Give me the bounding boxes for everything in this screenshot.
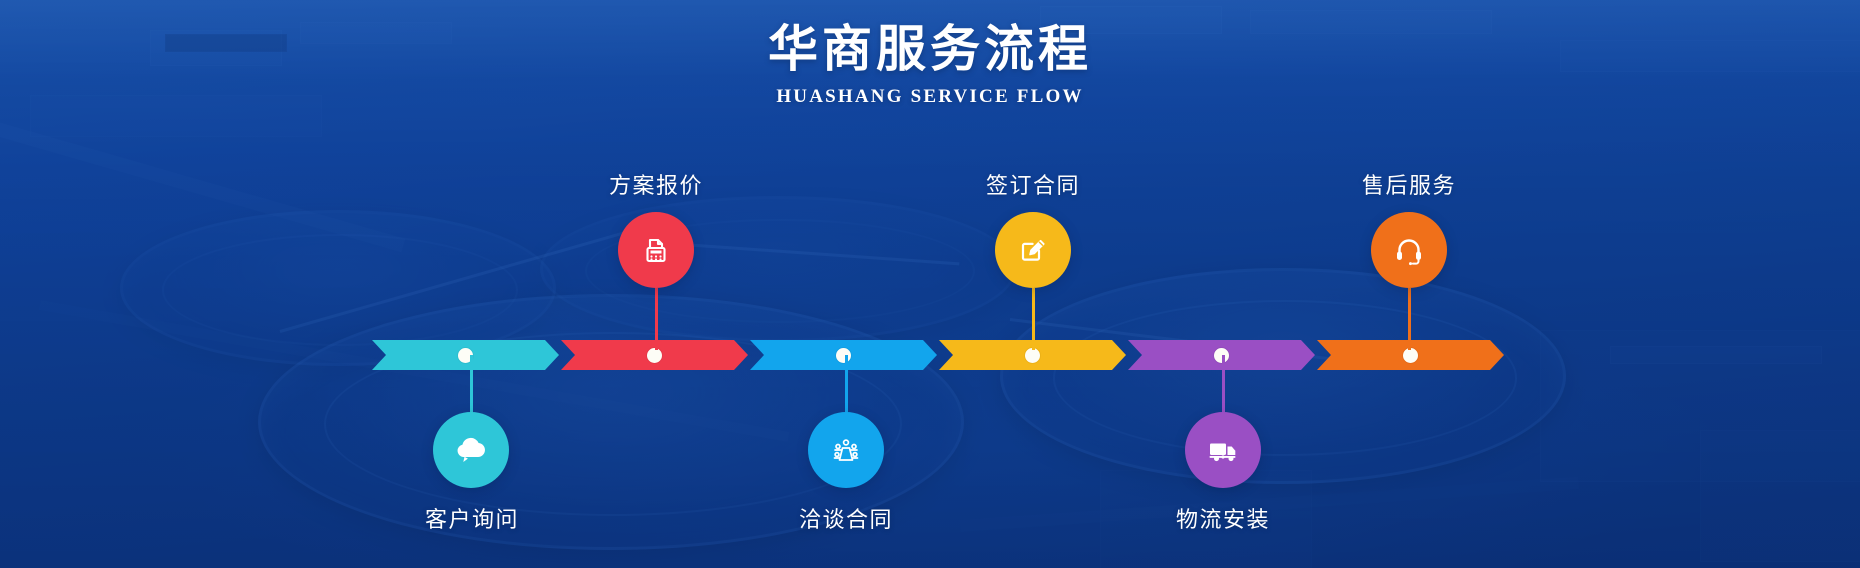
service-flow-diagram: 客户询问 <box>0 0 1860 568</box>
flow-icon-bubble-5[interactable] <box>1185 412 1261 488</box>
flow-step-label-2: 方案报价 <box>604 171 708 201</box>
flow-node-dot-3 <box>836 348 851 363</box>
flow-step-label-1: 客户询问 <box>420 505 524 535</box>
flow-icon-bubble-1[interactable] <box>433 412 509 488</box>
flow-step-label-3: 洽谈合同 <box>794 505 898 535</box>
flow-icon-bubble-6[interactable] <box>1371 212 1447 288</box>
flow-icon-bubble-3[interactable] <box>808 412 884 488</box>
flow-segment-3[interactable] <box>750 340 937 370</box>
flow-segment-1[interactable] <box>372 340 559 370</box>
flow-stem-6 <box>1408 288 1411 350</box>
flow-stem-4 <box>1032 288 1035 350</box>
banner-content: 华商服务流程 HUASHANG SERVICE FLOW <box>0 0 1860 568</box>
flow-arrow-bar <box>372 340 1504 370</box>
flow-step-label-5: 物流安装 <box>1171 505 1275 535</box>
flow-step-label-6: 售后服务 <box>1357 171 1461 201</box>
flow-icon-bubble-2[interactable] <box>618 212 694 288</box>
calculator-quote-icon <box>637 231 675 269</box>
service-flow-banner: 华商服务流程 HUASHANG SERVICE FLOW <box>0 0 1860 568</box>
flow-step-label-4: 签订合同 <box>981 171 1085 201</box>
cloud-chat-icon <box>451 430 491 470</box>
flow-stem-2 <box>655 288 658 350</box>
headset-support-icon <box>1389 230 1429 270</box>
flow-icon-bubble-4[interactable] <box>995 212 1071 288</box>
pen-sign-icon <box>1013 230 1053 270</box>
meeting-table-icon <box>826 430 866 470</box>
delivery-truck-icon <box>1202 429 1244 471</box>
